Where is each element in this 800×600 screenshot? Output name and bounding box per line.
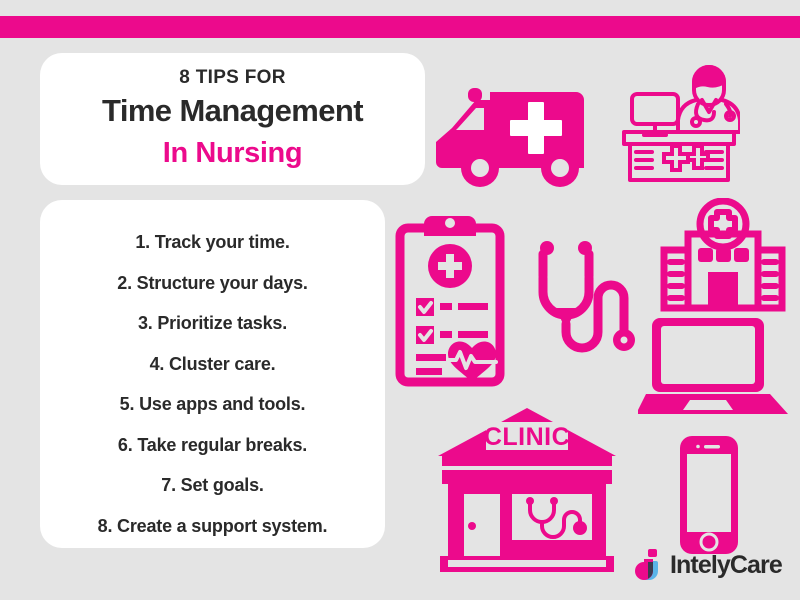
list-item: 5. Use apps and tools. xyxy=(40,384,385,425)
list-item: 7. Set goals. xyxy=(40,465,385,506)
list-item: 1. Track your time. xyxy=(40,222,385,263)
list-item: 8. Create a support system. xyxy=(40,506,385,547)
list-item: 4. Cluster care. xyxy=(40,344,385,385)
reception-desk-icon xyxy=(618,58,740,186)
ambulance-icon xyxy=(432,66,612,196)
hospital-building-icon xyxy=(658,198,788,314)
laptop-icon xyxy=(638,312,790,416)
intelycare-logo: IntelyCare xyxy=(634,548,794,584)
tips-list: 1. Track your time. 2. Structure your da… xyxy=(40,222,385,546)
clinic-building-icon: CLINIC xyxy=(434,404,620,576)
logo-wordmark: IntelyCare xyxy=(670,550,782,580)
list-item: 6. Take regular breaks. xyxy=(40,425,385,466)
intelycare-leaf-mark xyxy=(634,548,668,582)
page-title: Time Management xyxy=(40,93,425,129)
smartphone-icon xyxy=(668,434,752,556)
clinic-sign-text: CLINIC xyxy=(484,423,570,451)
page-subtitle: In Nursing xyxy=(40,137,425,170)
title-card: 8 TIPS FOR Time Management In Nursing xyxy=(40,53,425,185)
kicker-text: 8 TIPS FOR xyxy=(40,67,425,89)
top-accent-bar xyxy=(0,16,800,38)
list-item: 3. Prioritize tasks. xyxy=(40,303,385,344)
clipboard-checklist-icon xyxy=(394,210,506,388)
list-item: 2. Structure your days. xyxy=(40,263,385,304)
stethoscope-icon xyxy=(528,236,640,358)
infographic-canvas: 8 TIPS FOR Time Management In Nursing 1.… xyxy=(0,0,800,600)
tips-card: 1. Track your time. 2. Structure your da… xyxy=(40,200,385,548)
